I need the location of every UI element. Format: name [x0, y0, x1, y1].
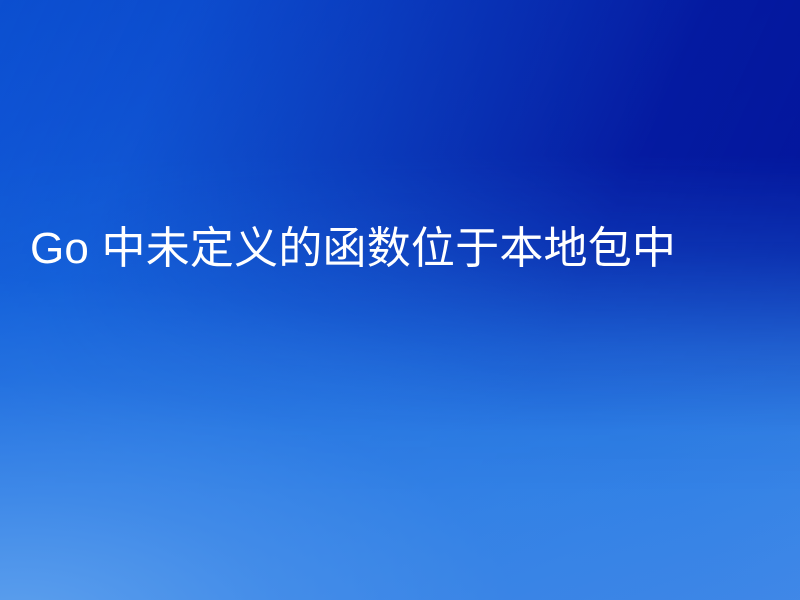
banner-card: Go 中未定义的函数位于本地包中: [0, 0, 800, 600]
headline-text: Go 中未定义的函数位于本地包中: [30, 212, 760, 286]
background-gradient-light-overlay: [0, 0, 800, 600]
